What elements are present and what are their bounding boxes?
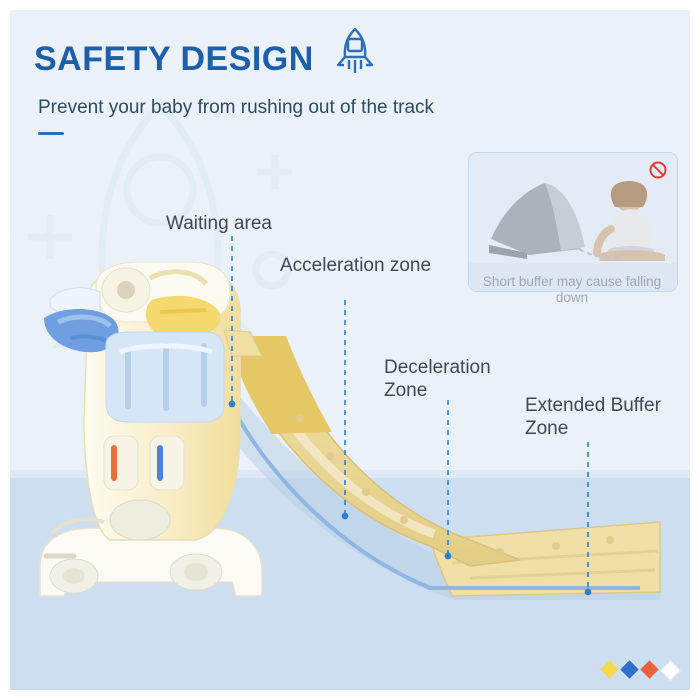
rocket-icon: [332, 26, 378, 83]
swatch-white: [660, 660, 681, 681]
frame-top: [0, 0, 700, 10]
swatch-orange: [640, 660, 658, 678]
swatch-yellow: [600, 660, 618, 678]
page-subtitle: Prevent your baby from rushing out of th…: [38, 97, 674, 119]
label-waiting-area: Waiting area: [166, 212, 272, 235]
label-deceleration-zone: Deceleration Zone: [384, 356, 534, 402]
frame-left: [0, 0, 10, 700]
frame-bottom: [0, 690, 700, 700]
inset-caption: Short buffer may cause falling down: [472, 274, 672, 306]
title-underline: [38, 132, 64, 135]
inset-illustration: [469, 153, 677, 291]
body-panel-right: [150, 436, 184, 490]
color-swatches: [603, 663, 678, 678]
body-panel-left: [104, 436, 138, 490]
frame-right: [690, 0, 700, 700]
infographic-page: SAFETY DESIGN Prevent your baby from rus…: [0, 0, 700, 700]
body-hole: [110, 500, 170, 540]
inset-card: [468, 152, 678, 292]
page-title: SAFETY DESIGN: [34, 39, 314, 79]
label-extended-buffer-zone: Extended Buffer Zone: [525, 394, 675, 440]
label-acceleration-zone: Acceleration zone: [280, 254, 440, 277]
swatch-blue: [620, 660, 638, 678]
no-entry-icon: [649, 161, 667, 179]
header: SAFETY DESIGN Prevent your baby from rus…: [34, 30, 674, 135]
